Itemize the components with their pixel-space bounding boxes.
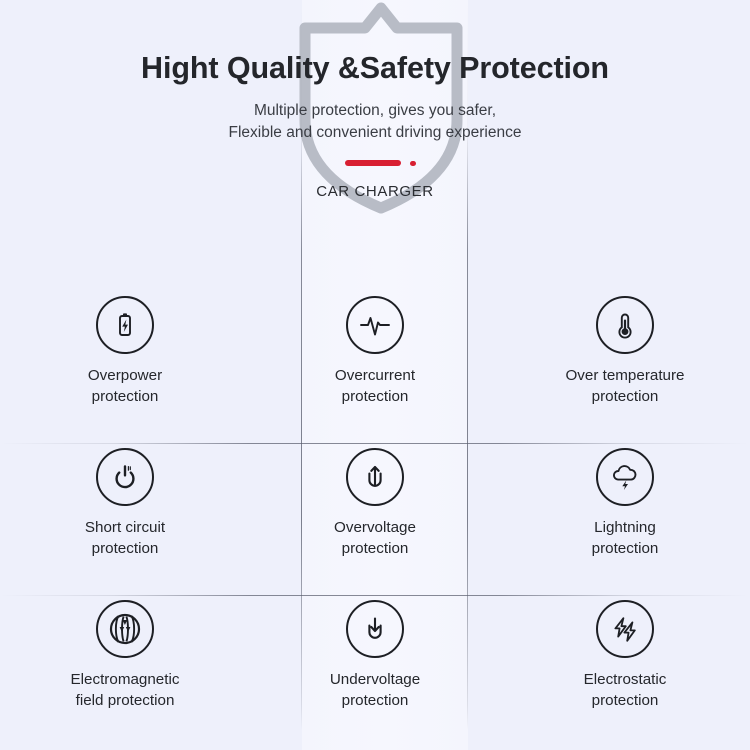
subtitle-line-1: Multiple protection, gives you safer, bbox=[0, 100, 750, 122]
feature-label: Lightning protection bbox=[592, 518, 659, 559]
double-bolt-icon bbox=[596, 600, 654, 658]
power-button-icon bbox=[96, 448, 154, 506]
u-arrow-down-icon bbox=[346, 600, 404, 658]
feature-label: Short circuit protection bbox=[85, 518, 165, 559]
magnetic-field-icon bbox=[96, 600, 154, 658]
cloud-bolt-icon bbox=[596, 448, 654, 506]
feature-row: Short circuit protection Overvoltage pro… bbox=[0, 448, 750, 600]
red-dot bbox=[410, 161, 416, 167]
red-dash bbox=[345, 160, 401, 166]
feature-cell-undervoltage: Undervoltage protection bbox=[250, 600, 500, 750]
feature-label: Electromagnetic field protection bbox=[71, 670, 180, 711]
feature-label: Overvoltage protection bbox=[334, 518, 416, 559]
feature-label: Over temperature protection bbox=[565, 366, 684, 407]
feature-cell-electromagnetic: Electromagnetic field protection bbox=[0, 600, 250, 750]
page-subtitle: Multiple protection, gives you safer, Fl… bbox=[0, 86, 750, 145]
feature-cell-electrostatic: Electrostatic protection bbox=[500, 600, 750, 750]
feature-cell-lightning: Lightning protection bbox=[500, 448, 750, 600]
page-title: Hight Quality &Safety Protection bbox=[0, 0, 750, 86]
feature-label: Electrostatic protection bbox=[584, 670, 667, 711]
feature-cell-over-temperature: Over temperature protection bbox=[500, 296, 750, 448]
u-arrow-up-icon bbox=[346, 448, 404, 506]
subtitle-line-2: Flexible and convenient driving experien… bbox=[0, 122, 750, 144]
thermometer-icon bbox=[596, 296, 654, 354]
accent-marks bbox=[0, 159, 750, 169]
battery-bolt-icon bbox=[96, 296, 154, 354]
feature-cell-overcurrent: Overcurrent protection bbox=[250, 296, 500, 448]
infographic-page: Hight Quality &Safety Protection Multipl… bbox=[0, 0, 750, 750]
feature-cell-overvoltage: Overvoltage protection bbox=[250, 448, 500, 600]
feature-row: Electromagnetic field protection Undervo… bbox=[0, 600, 750, 750]
feature-label: Overcurrent protection bbox=[335, 366, 415, 407]
ecg-waveform-icon bbox=[346, 296, 404, 354]
feature-cell-overpower: Overpower protection bbox=[0, 296, 250, 448]
feature-label: Undervoltage protection bbox=[330, 670, 420, 711]
header: Hight Quality &Safety Protection Multipl… bbox=[0, 0, 750, 144]
feature-label: Overpower protection bbox=[88, 366, 162, 407]
feature-cell-short-circuit: Short circuit protection bbox=[0, 448, 250, 600]
feature-grid: Overpower protection Overcurrent protect… bbox=[0, 296, 750, 750]
feature-row: Overpower protection Overcurrent protect… bbox=[0, 296, 750, 448]
product-label: CAR CHARGER bbox=[0, 183, 750, 200]
